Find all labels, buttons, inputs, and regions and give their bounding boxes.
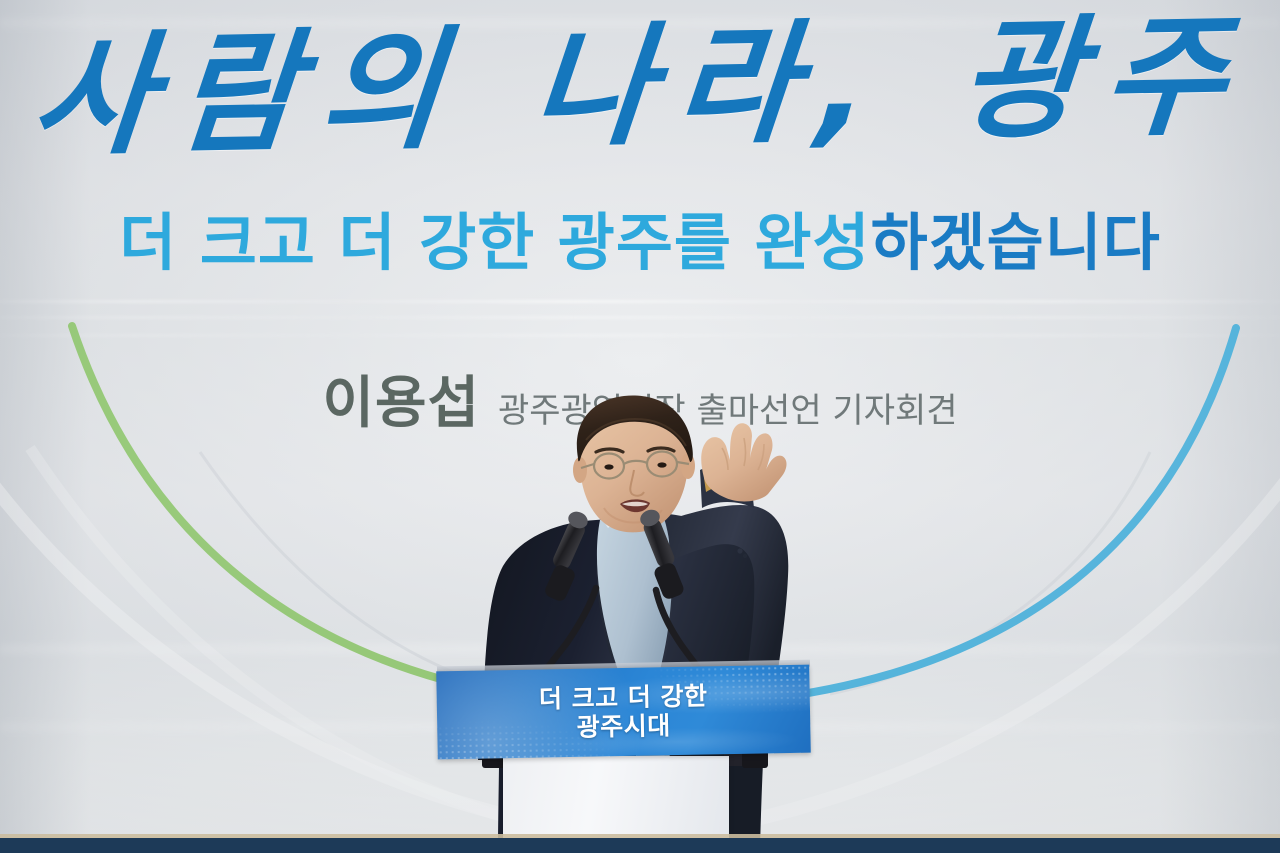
podium-sign: 더 크고 더 강한 광주시대: [436, 665, 811, 760]
raised-hand: [701, 423, 786, 501]
podium-sign-line-1: 더 크고 더 강한: [539, 681, 708, 714]
speaker-head: [573, 395, 695, 532]
screenshot-root: 사람의 나라, 광주 더 크고 더 강한 광주를 완성하겠습니다 이용섭광주광역…: [0, 0, 1280, 853]
podium-sign-line-2: 광주시대: [576, 711, 671, 742]
podium-sign-text: 더 크고 더 강한 광주시대: [436, 665, 811, 760]
stage-floor: [0, 838, 1280, 853]
